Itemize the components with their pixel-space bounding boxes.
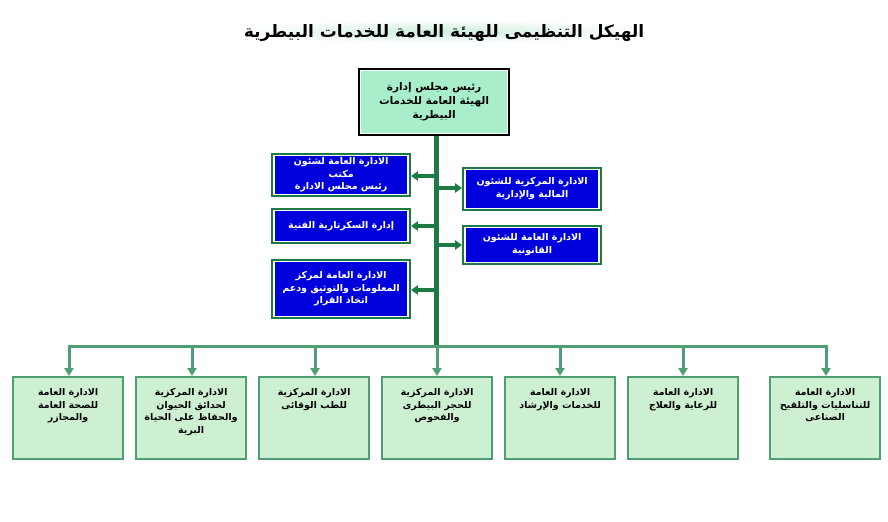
node-staff-legal-inner: الادارة العامة للشئون القانونية	[466, 228, 598, 262]
connector-staff-legal	[438, 243, 456, 247]
node-dept-reproduction[interactable]: الادارة العامة للتناسليات والتلقيح الصنا…	[769, 376, 881, 460]
arrowhead-staff-information-icon	[411, 285, 418, 295]
connector-distribution-bar	[68, 345, 828, 348]
node-dept-zoos[interactable]: الادارة المركزية لحدائق الحيوان والحفاظ …	[135, 376, 247, 460]
node-staff-secretariat-inner: إدارة السكرتارية الفنية	[275, 211, 407, 241]
connector-drop-preventive-medicine	[314, 345, 317, 370]
node-staff-office[interactable]: الادارة العامة لشئون مكتب رئيس مجلس الاد…	[271, 153, 411, 197]
node-staff-legal[interactable]: الادارة العامة للشئون القانونية	[462, 225, 602, 265]
node-dept-services[interactable]: الادارة العامة للخدمات والإرشاد	[504, 376, 616, 460]
node-dept-quarantine-label: الادارة المركزية للحجر البيطرى والفحوص	[383, 387, 491, 425]
page-title: الهيكل التنظيمى للهيئة العامة للخدمات ال…	[0, 20, 888, 44]
connector-drop-zoos	[191, 345, 194, 370]
connector-staff-information	[418, 288, 436, 292]
node-chairman-label: رئيس مجلس إدارة الهيئة العامة للخدمات ال…	[360, 81, 508, 123]
node-dept-quarantine[interactable]: الادارة المركزية للحجر البيطرى والفحوص	[381, 376, 493, 460]
node-dept-reproduction-label: الادارة العامة للتناسليات والتلقيح الصنا…	[771, 387, 879, 425]
node-dept-preventive-medicine[interactable]: الادارة المركزية للطب الوقائى	[258, 376, 370, 460]
node-dept-care-treatment-label: الادارة العامة للرعاية والعلاج	[629, 387, 737, 412]
arrowhead-reproduction-icon	[821, 368, 831, 376]
node-dept-services-label: الادارة العامة للخدمات والإرشاد	[506, 387, 614, 412]
arrowhead-public-health-icon	[64, 368, 74, 376]
arrowhead-care-treatment-icon	[678, 368, 688, 376]
node-staff-finance-inner: الادارة المركزية للشئون المالية والإداري…	[466, 170, 598, 208]
connector-drop-care-treatment	[682, 345, 685, 370]
node-chairman[interactable]: رئيس مجلس إدارة الهيئة العامة للخدمات ال…	[358, 68, 510, 136]
connector-staff-office	[418, 174, 436, 178]
arrowhead-staff-finance-icon	[455, 183, 462, 193]
connector-drop-reproduction	[825, 345, 828, 370]
org-chart-canvas: الهيكل التنظيمى للهيئة العامة للخدمات ال…	[0, 0, 888, 522]
arrowhead-staff-office-icon	[411, 171, 418, 181]
node-staff-information[interactable]: الادارة العامة لمركز المعلومات والتوثيق …	[271, 259, 411, 319]
node-staff-information-inner: الادارة العامة لمركز المعلومات والتوثيق …	[275, 262, 407, 316]
page-title-text: الهيكل التنظيمى للهيئة العامة للخدمات ال…	[236, 20, 652, 44]
node-dept-public-health-label: الادارة العامة للصحة العامة والمجازر	[14, 387, 122, 425]
node-staff-office-label: الادارة العامة لشئون مكتب رئيس مجلس الاد…	[276, 156, 406, 194]
connector-trunk-vertical	[434, 136, 439, 348]
node-staff-finance[interactable]: الادارة المركزية للشئون المالية والإداري…	[462, 167, 602, 211]
connector-drop-public-health	[68, 345, 71, 370]
node-dept-zoos-label: الادارة المركزية لحدائق الحيوان والحفاظ …	[137, 387, 245, 437]
node-dept-care-treatment[interactable]: الادارة العامة للرعاية والعلاج	[627, 376, 739, 460]
arrowhead-preventive-medicine-icon	[310, 368, 320, 376]
arrowhead-services-icon	[555, 368, 565, 376]
node-dept-preventive-medicine-label: الادارة المركزية للطب الوقائى	[260, 387, 368, 412]
connector-staff-finance	[438, 186, 456, 190]
node-staff-finance-label: الادارة المركزية للشئون المالية والإداري…	[467, 176, 597, 201]
node-staff-office-inner: الادارة العامة لشئون مكتب رئيس مجلس الاد…	[275, 156, 407, 194]
connector-drop-services	[559, 345, 562, 370]
node-staff-secretariat[interactable]: إدارة السكرتارية الفنية	[271, 208, 411, 244]
node-staff-legal-label: الادارة العامة للشئون القانونية	[467, 232, 597, 257]
node-staff-information-label: الادارة العامة لمركز المعلومات والتوثيق …	[276, 270, 406, 308]
arrowhead-zoos-icon	[187, 368, 197, 376]
node-dept-public-health[interactable]: الادارة العامة للصحة العامة والمجازر	[12, 376, 124, 460]
connector-drop-quarantine	[436, 345, 439, 370]
node-staff-secretariat-label: إدارة السكرتارية الفنية	[276, 220, 406, 233]
arrowhead-staff-legal-icon	[455, 240, 462, 250]
arrowhead-staff-secretariat-icon	[411, 221, 418, 231]
connector-staff-secretariat	[418, 224, 436, 228]
arrowhead-quarantine-icon	[432, 368, 442, 376]
